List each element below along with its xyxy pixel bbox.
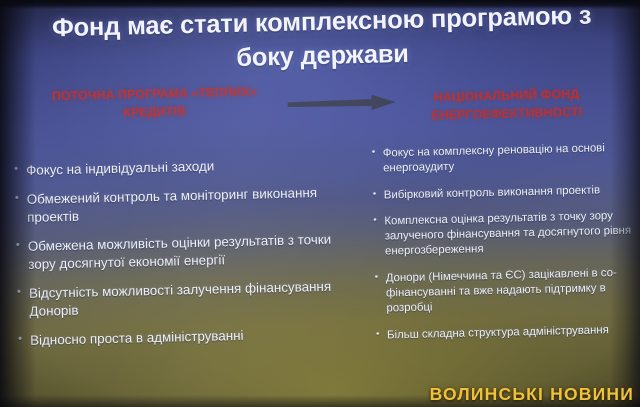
list-item: • Обмежений контроль та моніторинг викон… [15,184,346,227]
bullet-dot-icon: • [373,188,384,201]
arrow-right-icon [287,94,395,113]
left-bullet-list: • Фокус на індивідуальні заходи • Обмеже… [14,154,349,361]
list-item: • Відносно проста в адмініструванні [18,324,348,349]
list-item: • Більш складна структура адмініструванн… [376,322,640,344]
list-item: • Обмежена можливість оцінки результатів… [16,231,347,274]
bullet-dot-icon: • [14,162,26,177]
list-item-label: Вибірковий контроль виконання проектів [384,182,640,203]
bullet-dot-icon: • [373,214,384,227]
list-item: • Фокус на індивідуальні заходи [14,154,344,179]
list-item: • Донори (Німеччина та ЄС) зацікавлені в… [375,265,640,317]
list-item-label: Обмежена можливість оцінки результатів з… [28,231,347,273]
slide-title: Фонд має стати комплексною програмою з б… [32,0,611,81]
list-item-label: Відсутність можливості залучення фінансу… [29,278,348,320]
list-item-label: Комплексна оцінка результатів з точку зо… [384,208,640,260]
list-item-label: Відносно проста в адмініструванні [30,324,348,349]
bullet-dot-icon: • [376,328,387,341]
list-item-label: Фокус на індивідуальні заходи [26,154,344,179]
list-item: • Фокус на комплексну реновацію на основ… [372,140,640,177]
list-item: • Відсутність можливості залучення фінан… [17,278,348,321]
right-column-header: НАЦІОНАЛЬНИЙ ФОНД ЕНЕРГОЕФЕКТИВНОСТІ [390,85,623,126]
watermark: ВОЛИНСЬКІ НОВИНИ [430,384,634,405]
list-item-label: Більш складна структура адміністрування [387,322,640,343]
bullet-dot-icon: • [18,332,30,347]
list-item-label: Донори (Німеччина та ЄС) зацікавлені в с… [386,265,640,317]
left-column-header: ПОТОЧНА ПРОГРАМА «ТЕПЛИХ» КРЕДИТІВ [34,83,275,125]
slide-photo: Фонд має стати комплексною програмою з б… [0,0,640,407]
bullet-dot-icon: • [375,271,386,284]
bullet-dot-icon: • [16,238,28,253]
slide-content: Фонд має стати комплексною програмою з б… [0,0,640,407]
bullet-dot-icon: • [372,147,383,160]
bullet-dot-icon: • [17,285,29,300]
list-item-label: Обмежений контроль та моніторинг виконан… [27,184,346,226]
list-item: • Вибірковий контроль виконання проектів [373,182,640,204]
list-item-label: Фокус на комплексну реновацію на основі … [383,140,640,177]
list-item: • Комплексна оцінка результатів з точку … [373,208,640,260]
right-bullet-list: • Фокус на комплексну реновацію на основ… [372,140,640,354]
bullet-dot-icon: • [15,191,27,206]
